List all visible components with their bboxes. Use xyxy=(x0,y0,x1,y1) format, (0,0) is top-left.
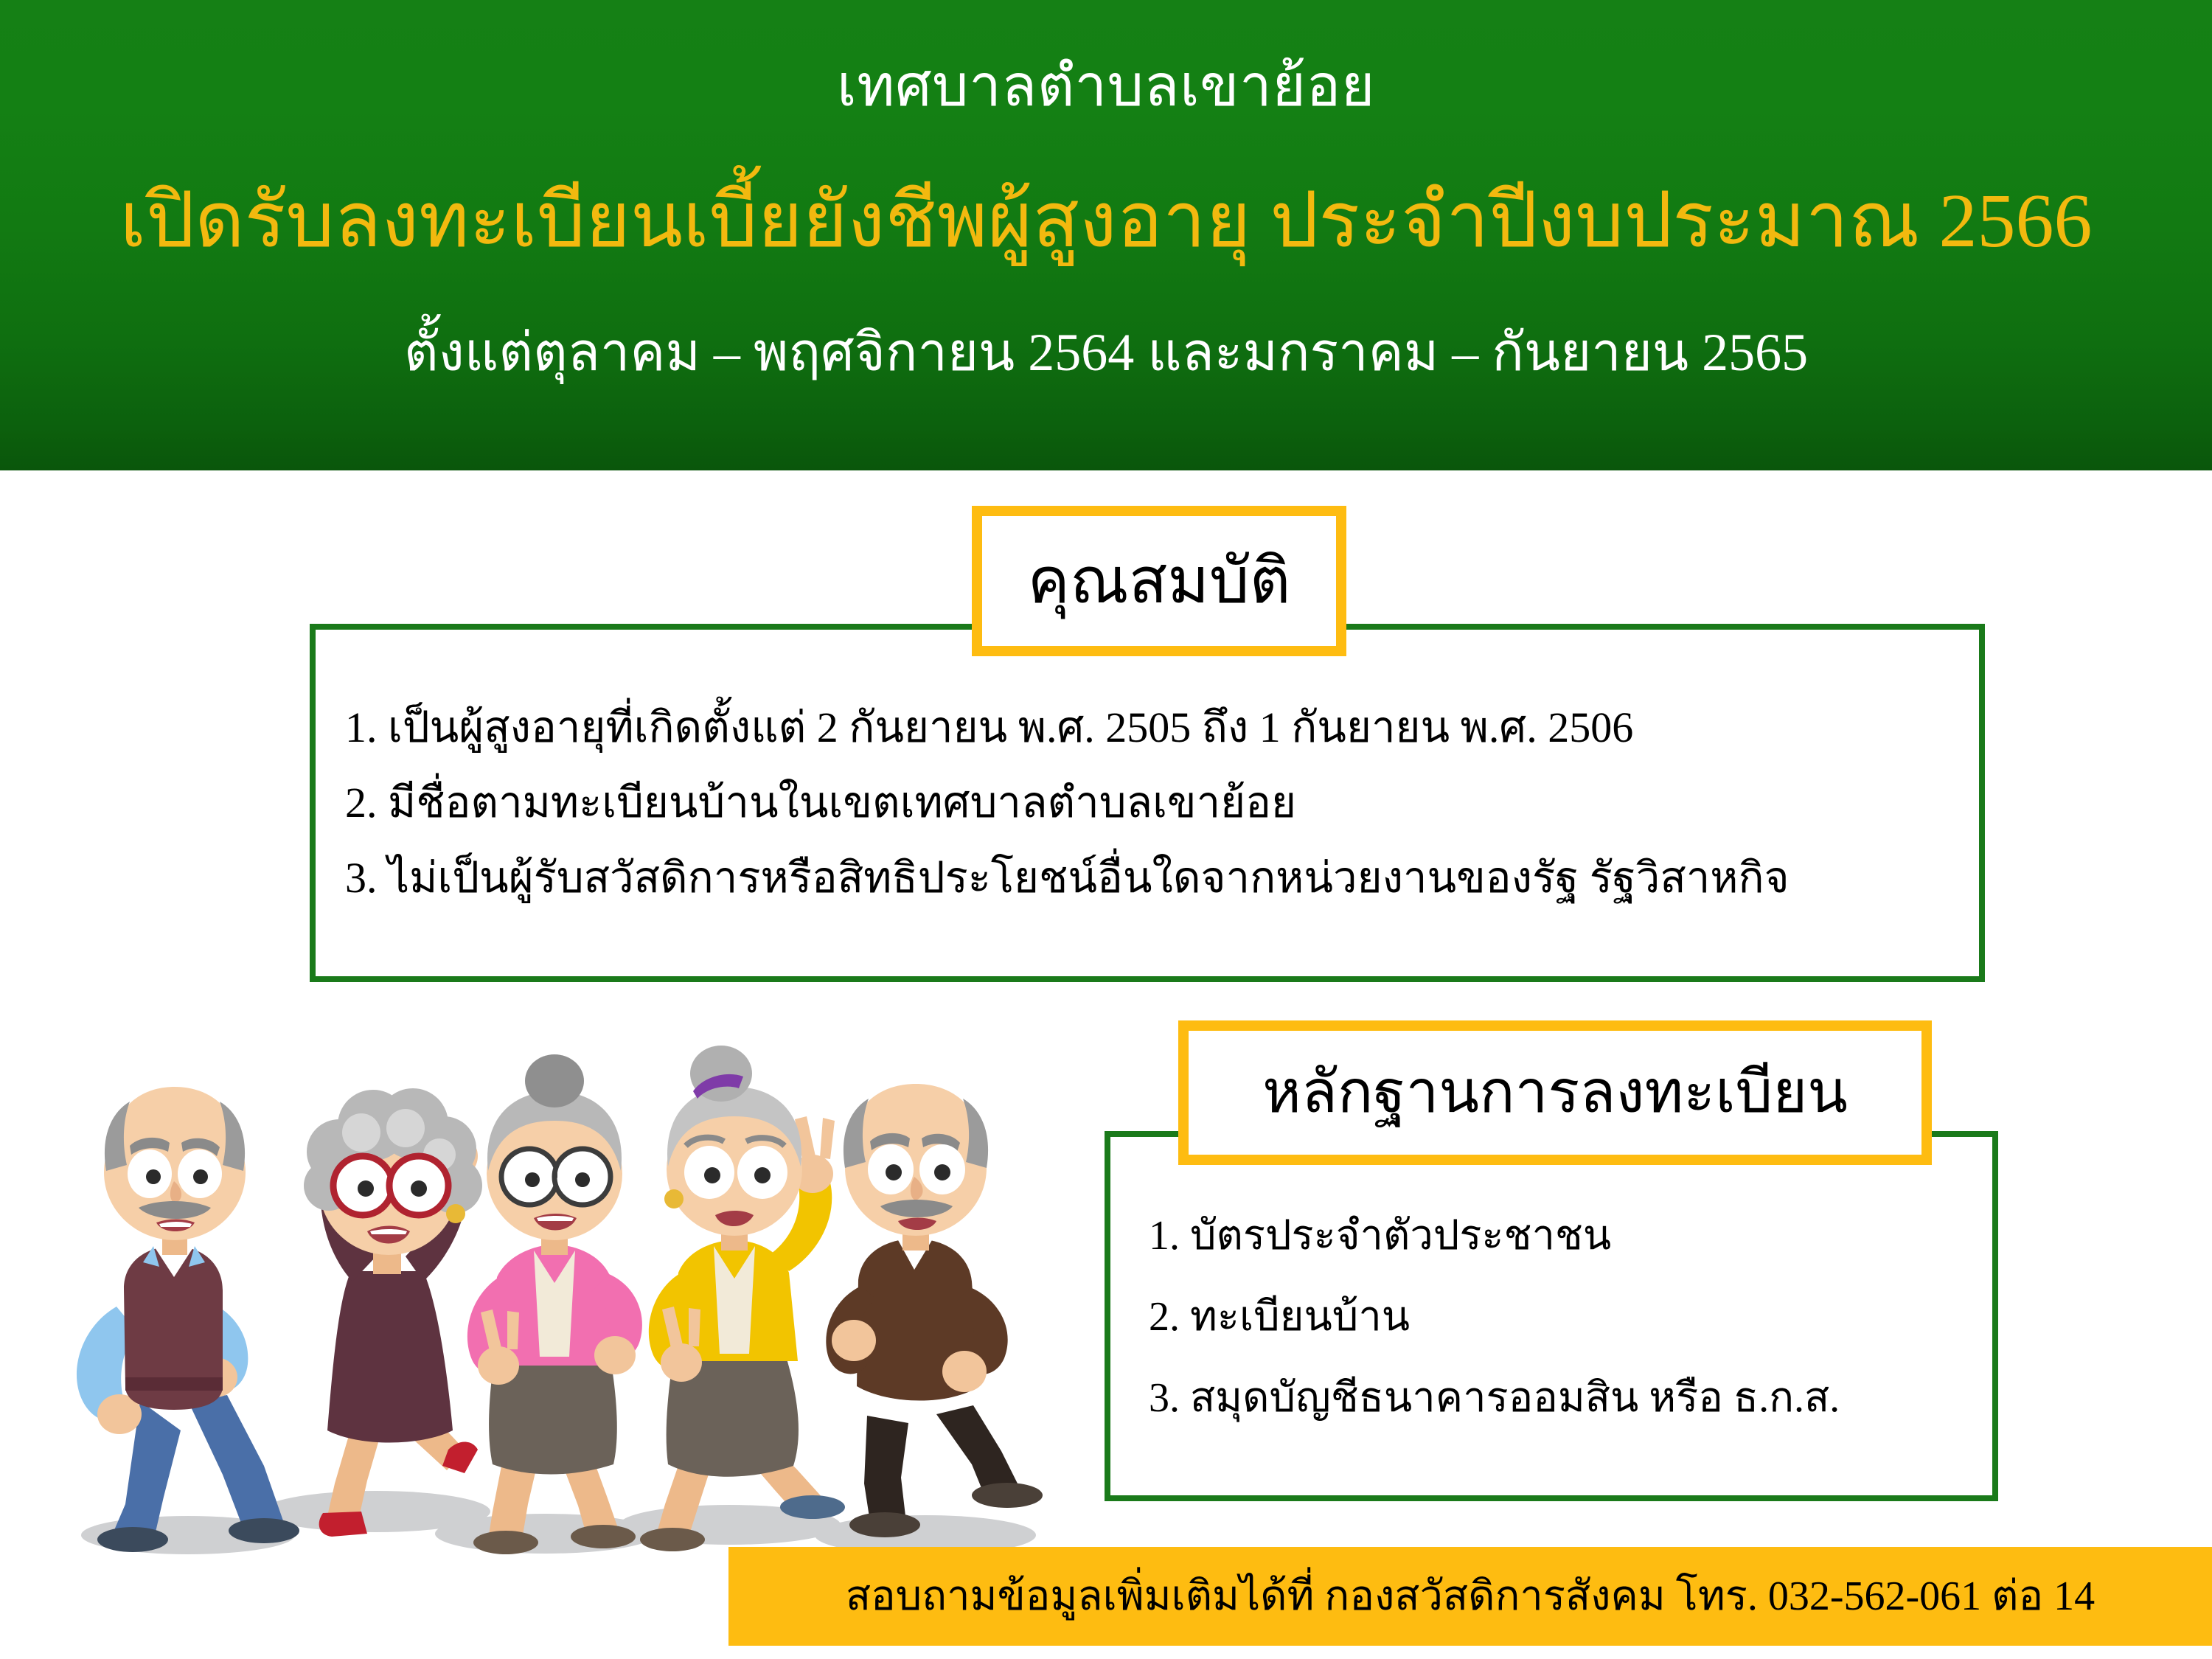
list-item: 3. ไม่เป็นผู้รับสวัสดิการหรือสิทธิประโยช… xyxy=(345,857,1960,900)
documents-section-title: หลักฐานการลงทะเบียน xyxy=(1178,1020,1932,1165)
documents-title-label: หลักฐานการลงทะเบียน xyxy=(1262,1063,1848,1122)
contact-footer-bar: สอบถามข้อมูลเพิ่มเติมได้ที่ กองสวัสดิการ… xyxy=(728,1547,2212,1646)
registration-period: ตั้งแต่ตุลาคม – พฤศจิกายน 2564 และมกราคม… xyxy=(0,326,2212,379)
documents-list: 1. บัตรประจำตัวประชาชน 2. ทะเบียนบ้าน 3.… xyxy=(1149,1215,1967,1458)
list-item: 3. สมุดบัญชีธนาคารออมสิน หรือ ธ.ก.ส. xyxy=(1149,1377,1967,1419)
elderly-woman-purple xyxy=(304,1088,482,1537)
elderly-man-brown xyxy=(826,1084,1043,1537)
elderly-woman-pink xyxy=(467,1054,642,1554)
list-item: 1. เป็นผู้สูงอายุที่เกิดตั้งแต่ 2 กันยาย… xyxy=(345,706,1960,749)
qualifications-title-label: คุณสมบัติ xyxy=(1028,549,1291,613)
dancing-elderly-illustration xyxy=(29,988,1069,1578)
organization-name: เทศบาลตำบลเขาย้อย xyxy=(0,58,2212,115)
elderly-man-blue xyxy=(77,1087,299,1552)
announcement-title: เปิดรับลงทะเบียนเบี้ยยังชีพผู้สูงอายุ ปร… xyxy=(0,183,2212,260)
qualifications-list: 1. เป็นผู้สูงอายุที่เกิดตั้งแต่ 2 กันยาย… xyxy=(345,706,1960,932)
list-item: 2. ทะเบียนบ้าน xyxy=(1149,1296,1967,1338)
qualifications-box: 1. เป็นผู้สูงอายุที่เกิดตั้งแต่ 2 กันยาย… xyxy=(310,624,1985,982)
contact-info-text: สอบถามข้อมูลเพิ่มเติมได้ที่ กองสวัสดิการ… xyxy=(846,1576,2095,1617)
documents-box: 1. บัตรประจำตัวประชาชน 2. ทะเบียนบ้าน 3.… xyxy=(1105,1131,1998,1501)
header-banner: เทศบาลตำบลเขาย้อย เปิดรับลงทะเบียนเบี้ยย… xyxy=(0,0,2212,470)
qualifications-section-title: คุณสมบัติ xyxy=(972,506,1346,656)
list-item: 1. บัตรประจำตัวประชาชน xyxy=(1149,1215,1967,1256)
elderly-woman-yellow xyxy=(640,1046,845,1551)
list-item: 2. มีชื่อตามทะเบียนบ้านในเขตเทศบาลตำบลเข… xyxy=(345,782,1960,824)
